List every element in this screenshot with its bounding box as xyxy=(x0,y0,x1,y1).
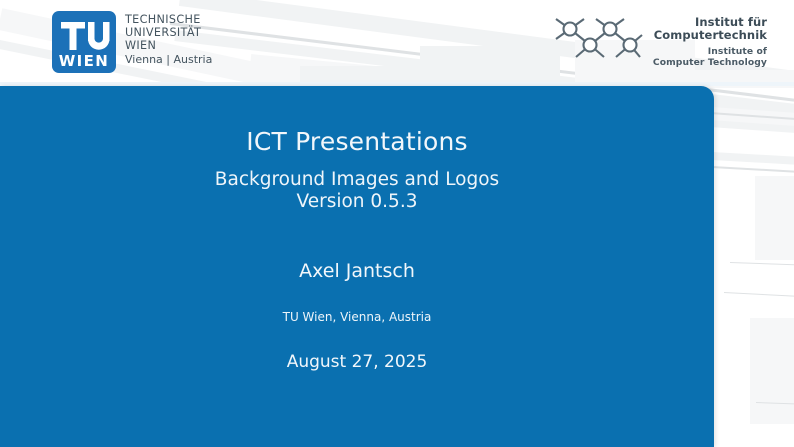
tu-wien-logo-icon: WIEN xyxy=(52,11,116,73)
svg-text:WIEN: WIEN xyxy=(59,52,110,70)
presentation-date: August 27, 2025 xyxy=(0,352,714,372)
ict-logo: Institut für Computertechnik Institute o… xyxy=(547,12,767,72)
tu-line-3: WIEN xyxy=(125,40,212,53)
ict-line-2: Computertechnik xyxy=(653,29,767,43)
slide-header: WIEN TECHNISCHE UNIVERSITÄT WIEN Vienna … xyxy=(0,0,794,82)
subtitle-line-1: Background Images and Logos xyxy=(0,169,714,190)
title-panel: ICT Presentations Background Images and … xyxy=(0,86,714,447)
title-text-block: ICT Presentations Background Images and … xyxy=(0,128,714,372)
ict-line-4: Computer Technology xyxy=(653,57,767,68)
subtitle-line-2: Version 0.5.3 xyxy=(0,191,714,212)
ict-line-3: Institute of xyxy=(653,46,767,57)
author-affiliation: TU Wien, Vienna, Austria xyxy=(0,310,714,324)
tu-wien-logo: WIEN TECHNISCHE UNIVERSITÄT WIEN Vienna … xyxy=(52,11,212,73)
presentation-title-slide: WIEN TECHNISCHE UNIVERSITÄT WIEN Vienna … xyxy=(0,0,794,447)
ict-line-1: Institut für xyxy=(653,16,767,30)
page-title: ICT Presentations xyxy=(0,128,714,156)
author-name: Axel Jantsch xyxy=(0,260,714,282)
ict-wordmark: Institut für Computertechnik Institute o… xyxy=(653,16,767,69)
tu-wien-wordmark: TECHNISCHE UNIVERSITÄT WIEN Vienna | Aus… xyxy=(125,11,212,67)
tu-line-4: Vienna | Austria xyxy=(125,54,212,67)
ict-molecule-chain-icon xyxy=(547,12,643,72)
tu-line-2: UNIVERSITÄT xyxy=(125,27,212,40)
tu-line-1: TECHNISCHE xyxy=(125,14,212,27)
